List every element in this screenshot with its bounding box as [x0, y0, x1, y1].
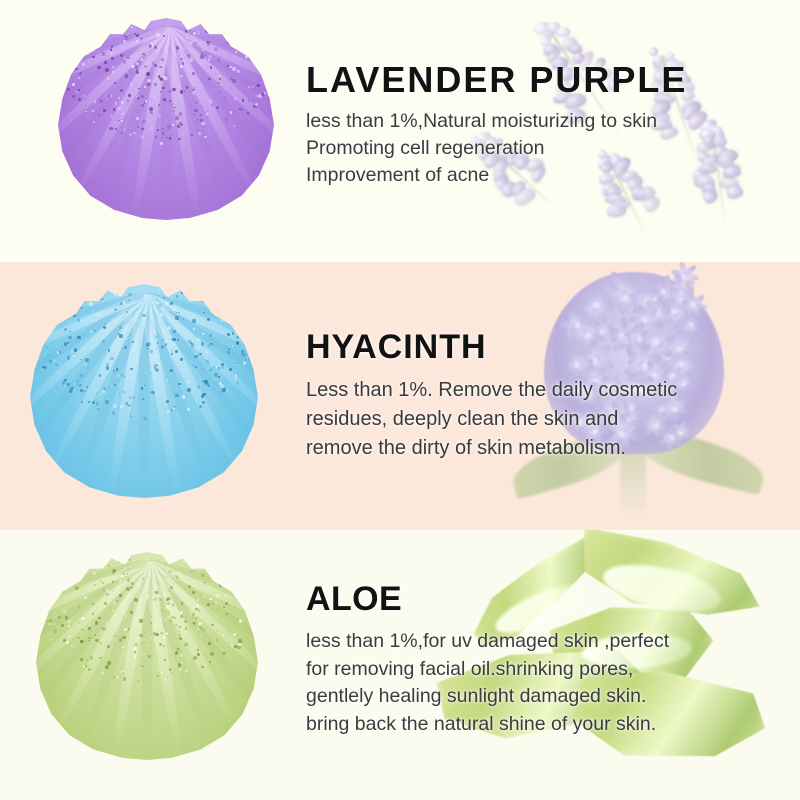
shell-pore	[216, 557, 217, 558]
shell-pore	[49, 619, 52, 622]
shell-pore	[230, 111, 233, 114]
shell-pore	[249, 329, 251, 331]
shell-pore	[121, 101, 124, 104]
shell-pore	[193, 32, 196, 35]
shell-pore	[234, 376, 237, 379]
shell-pore	[224, 294, 227, 297]
shell-pore	[249, 4, 251, 6]
shell-pore	[176, 51, 178, 53]
shell-pore	[201, 554, 205, 558]
shell-pore	[184, 90, 186, 92]
shell-pore	[63, 533, 67, 537]
shell-pore	[195, 102, 198, 105]
shell-pore	[224, 585, 227, 588]
shell-pore	[129, 648, 130, 649]
hyacinth-floret	[678, 287, 713, 322]
shell-pore	[48, 332, 50, 334]
hyacinth-petal	[660, 291, 670, 309]
shell-pore	[107, 661, 110, 664]
hyacinth-floret-core	[611, 283, 627, 299]
lavender-floret	[605, 193, 627, 204]
shell-pore	[119, 334, 122, 337]
shell-pore	[99, 657, 101, 659]
shell-pore	[101, 298, 104, 301]
shell-pore	[137, 637, 139, 639]
shell-pore	[109, 5, 112, 8]
shell-pore	[67, 356, 70, 359]
shell-pore	[71, 645, 73, 647]
shell-pore	[75, 68, 78, 71]
shell-pore	[255, 18, 256, 19]
shell-pore	[207, 111, 209, 113]
shell-pore	[266, 17, 267, 18]
shell-pore	[180, 572, 181, 573]
shell-pore	[89, 565, 93, 569]
lavender-floret	[554, 26, 570, 37]
shell-pore	[203, 566, 205, 568]
shell-pore	[244, 51, 247, 54]
shell-pore	[110, 357, 113, 360]
shell-pore	[42, 262, 45, 263]
shell-pore	[157, 669, 159, 671]
shell-pore	[56, 287, 60, 291]
shell-pore	[157, 129, 159, 131]
shell-pore	[216, 532, 218, 534]
shell-pore	[193, 87, 195, 89]
shell-pore	[96, 46, 98, 48]
shell-pore	[112, 66, 114, 68]
hyacinth-petal	[670, 298, 679, 314]
shell-pore	[172, 308, 175, 311]
shell-pore	[136, 34, 139, 37]
shell-pore	[260, 47, 261, 48]
shell-pore	[202, 393, 205, 396]
shell-pore	[69, 270, 72, 273]
shell-pore	[232, 79, 236, 83]
shell-pore	[175, 394, 178, 397]
shell-pore	[167, 677, 169, 679]
shell-pore	[260, 80, 261, 81]
shell-pore	[72, 83, 75, 86]
shell-pore	[180, 654, 183, 657]
shell-pore	[105, 13, 107, 15]
shell-pore	[94, 584, 96, 586]
shell-pore	[94, 31, 95, 32]
shell-pore	[139, 605, 140, 606]
shell-pore	[254, 6, 257, 9]
shell-pore	[98, 114, 100, 116]
shell-pore	[131, 26, 133, 28]
shell-pore	[67, 342, 69, 344]
shell-pore	[83, 390, 86, 393]
hyacinth-petal	[662, 299, 682, 309]
shell-pore	[64, 379, 67, 382]
shell-pore	[208, 78, 211, 81]
shell-pore	[110, 52, 113, 55]
shell-pore	[114, 557, 117, 560]
shell-pore	[197, 338, 200, 341]
shell-pore	[209, 334, 212, 337]
hyacinth-floret	[658, 296, 693, 331]
shell-pore	[202, 647, 204, 649]
shell-pore	[105, 32, 107, 34]
shell-pore	[191, 134, 193, 136]
shell-pore	[84, 52, 86, 54]
shell-pore	[102, 52, 106, 56]
shell-pore	[211, 624, 214, 627]
shell-pore	[201, 342, 205, 346]
shell-pore	[124, 376, 126, 378]
shell-pore	[210, 652, 214, 656]
shell-pore	[90, 278, 91, 279]
hyacinth-petal	[661, 311, 677, 326]
shell-pore	[209, 598, 211, 600]
shell-pore	[142, 666, 143, 667]
shell-pore	[242, 27, 243, 28]
shell-pore	[201, 280, 203, 282]
shell-pore	[195, 613, 198, 616]
shell-pore	[67, 298, 70, 301]
shell-pore	[128, 293, 131, 296]
shell-pore	[158, 104, 160, 106]
shell-pore	[172, 124, 174, 126]
shell-pore	[261, 82, 262, 83]
hyacinth-petal	[602, 288, 622, 308]
shell-pore	[232, 332, 235, 335]
shell-pore	[187, 408, 190, 411]
shell-pore	[214, 6, 217, 9]
shell-pore	[226, 390, 228, 392]
shell-pore	[235, 274, 238, 277]
shell-pore	[118, 561, 120, 563]
hyacinth-petal	[682, 275, 691, 290]
shell-pore	[236, 280, 238, 282]
shell-pore	[220, 384, 224, 388]
shell-pore	[180, 65, 183, 68]
shell-pore	[58, 616, 61, 619]
shell-pore	[155, 586, 157, 588]
shell-pore	[119, 579, 122, 582]
shell-pore	[46, 574, 48, 576]
shell-pore	[94, 35, 95, 36]
shell-pore	[109, 127, 113, 131]
shell-pore	[49, 360, 52, 363]
shell-pore	[108, 565, 110, 567]
shell-pore	[204, 561, 207, 564]
shell-pore	[203, 300, 205, 302]
shell-pore	[222, 377, 224, 379]
shell-pore	[210, 573, 213, 576]
shell-pore	[231, 531, 234, 534]
shell-pore	[126, 71, 128, 73]
shell-pore	[200, 55, 204, 59]
shell-pore	[160, 313, 163, 316]
shell-pore	[138, 28, 139, 29]
shell-pore	[248, 352, 250, 354]
shell-pore	[92, 603, 94, 605]
panel-body-line-1: less than 1%,Natural moisturizing to ski…	[306, 108, 776, 135]
shell-pore	[98, 617, 100, 619]
shell-pore	[221, 331, 222, 332]
shell-pore	[89, 623, 91, 625]
shell-pore	[233, 559, 236, 562]
shell-pore	[77, 319, 80, 322]
shell-pore	[111, 45, 114, 48]
hyacinth-floret-core	[690, 300, 700, 310]
shell-pore	[241, 12, 242, 13]
shell-pore	[68, 336, 71, 339]
shell-pore	[224, 310, 225, 311]
shell-pore	[237, 47, 240, 50]
shell-pore	[227, 42, 229, 44]
shell-pore	[202, 628, 205, 631]
shell-pore	[167, 586, 169, 588]
shell-pore	[78, 98, 81, 101]
shell-pore	[117, 676, 120, 679]
panel-hyacinth: HYACINTH Less than 1%. Remove the daily …	[0, 262, 800, 530]
shell-pore	[243, 361, 246, 364]
shell-pore	[250, 341, 252, 343]
shell-pore	[239, 619, 242, 622]
shell-pore	[55, 546, 58, 549]
shell-pore	[212, 370, 213, 371]
shell-pore	[122, 572, 125, 575]
shell-pore	[210, 84, 211, 85]
shell-pore	[83, 95, 85, 97]
shell-pore	[124, 628, 127, 631]
shell-pore	[100, 98, 102, 100]
shell-pore	[140, 37, 143, 40]
shell-pore	[166, 137, 168, 139]
shell-pore	[195, 353, 197, 355]
shell-pore	[47, 347, 49, 349]
shell-pore	[197, 31, 200, 34]
shell-pore	[218, 376, 220, 378]
shell-pore	[166, 400, 168, 402]
shell-pore	[171, 353, 173, 355]
shell-pore	[111, 385, 112, 386]
hyacinth-petal	[681, 300, 701, 310]
shell-pore	[55, 363, 59, 367]
shell-pore	[242, 99, 245, 102]
shell-pore	[44, 610, 45, 611]
shell-pore	[265, 43, 266, 44]
shell-pore	[75, 551, 77, 553]
shell-pore	[53, 542, 56, 545]
lavender-floret	[542, 42, 559, 57]
hyacinth-petal	[593, 288, 606, 308]
shell-pore	[110, 396, 111, 397]
shell-pore	[103, 326, 106, 329]
shell-pore	[167, 616, 170, 619]
shell-pore	[63, 639, 65, 641]
shell-pore	[222, 302, 225, 305]
shell-pore	[94, 27, 96, 29]
shell-pore	[134, 643, 138, 647]
shell-pore	[113, 370, 115, 372]
shell-pore	[82, 51, 85, 54]
shell-pore	[80, 359, 82, 361]
shell-pore	[134, 602, 135, 603]
shell-pore	[206, 351, 208, 353]
shell-pore	[236, 322, 240, 326]
shell-pore	[153, 330, 157, 334]
shell-pore	[110, 95, 111, 96]
shell-pore	[81, 319, 84, 322]
shell-pore	[132, 595, 133, 596]
shell-pore	[170, 586, 173, 589]
hyacinth-floret-core	[660, 311, 668, 319]
shell-pore	[51, 573, 53, 575]
shell-pore	[161, 609, 164, 612]
shell-pore	[147, 348, 149, 350]
shell-pore	[165, 302, 168, 305]
shell-pore	[180, 358, 183, 361]
shell-pore	[122, 672, 124, 674]
shell-pore	[77, 41, 79, 43]
shell-pore	[150, 637, 151, 638]
shell-pore	[213, 365, 216, 368]
shell-pore	[219, 295, 223, 299]
shell-pore	[144, 86, 147, 89]
panel-body-line-4: bring back the natural shine of your ski…	[306, 711, 776, 739]
shell-pore	[72, 95, 75, 98]
hyacinth-petal	[678, 262, 687, 276]
shell-pore	[88, 539, 91, 542]
shell-pore	[248, 358, 251, 361]
shell-pore	[213, 378, 214, 379]
shell-pore	[206, 113, 208, 115]
shell-pore	[89, 302, 93, 306]
shell-pore	[126, 587, 130, 591]
shell-pore	[97, 552, 100, 555]
shell-pore	[69, 370, 70, 371]
shell-pore	[209, 661, 211, 663]
shell-pore	[130, 368, 133, 371]
shell-pore	[78, 77, 80, 79]
shell-pore	[264, 92, 266, 94]
shell-pore	[160, 91, 162, 93]
shell-pore	[248, 543, 251, 546]
shell-pore	[118, 97, 120, 99]
shell-pore	[95, 285, 98, 288]
hyacinth-floret	[655, 278, 708, 331]
shell-pore	[122, 614, 123, 615]
shell-body	[58, 18, 274, 220]
shell-pore	[164, 291, 165, 292]
shell-pore	[124, 559, 127, 562]
shell-pore	[194, 548, 197, 551]
shell-pore	[200, 635, 202, 637]
shell-pore	[90, 31, 92, 33]
hyacinth-petal	[682, 298, 696, 307]
shell-pore	[153, 598, 156, 601]
shell-pore	[227, 351, 230, 354]
shell-pore	[119, 594, 122, 597]
shell-pore	[79, 72, 82, 75]
shell-pore	[77, 380, 79, 382]
shell-pore	[124, 12, 126, 14]
hyacinth-floret	[668, 262, 702, 292]
shell-pore	[95, 621, 99, 625]
shell-pore	[84, 45, 86, 47]
shell-holder-blue	[0, 262, 280, 530]
shell-pore	[198, 619, 199, 620]
shell-pore	[77, 336, 81, 340]
shell-pore	[224, 595, 226, 597]
panel-aloe: ALOE less than 1%,for uv damaged skin ,p…	[0, 530, 800, 800]
hyacinth-petal	[692, 304, 701, 318]
shell-pore	[176, 295, 179, 298]
shell-pore	[225, 286, 226, 287]
hyacinth-petal	[652, 298, 664, 314]
shell-pore	[37, 283, 40, 286]
shell-pore	[75, 586, 78, 589]
shell-pore	[100, 580, 101, 581]
shell-pore	[180, 58, 182, 60]
shell-pore	[140, 665, 142, 667]
shell-pore	[180, 75, 183, 78]
shell-pore	[197, 119, 198, 120]
shell-pore	[95, 272, 98, 275]
hyacinth-petal	[629, 292, 646, 304]
shell-pore	[114, 82, 116, 84]
shell-pore	[243, 27, 244, 28]
shell-pore	[78, 266, 80, 268]
shell-pore	[68, 574, 69, 575]
shell-pore	[150, 350, 152, 352]
shell-pore	[191, 360, 192, 361]
shell-pore	[101, 290, 102, 291]
shell-pore	[233, 633, 236, 636]
shell-pore	[174, 617, 176, 619]
shell-pore	[199, 562, 202, 565]
shell-pore	[125, 17, 128, 20]
shell-pore	[114, 635, 116, 637]
shell-pore	[145, 100, 148, 103]
panel-body-line-3: remove the dirty of skin metabolism.	[306, 434, 776, 463]
shell-pore	[217, 317, 219, 319]
shell-pore	[122, 636, 126, 640]
shell-pore	[97, 313, 101, 317]
shell-pore	[245, 38, 246, 39]
shell-pore	[245, 55, 248, 58]
shell-pore	[92, 613, 94, 615]
shell-pore	[89, 33, 92, 36]
shell-pore	[135, 563, 136, 564]
shell-pore	[229, 368, 233, 372]
shell-pore	[49, 292, 51, 294]
shell-pore	[130, 586, 133, 589]
shell-pore	[225, 117, 228, 120]
shell-pore	[206, 41, 208, 43]
shell-pore	[159, 643, 162, 646]
shell-pore	[155, 633, 158, 636]
shell-pore	[154, 46, 157, 49]
hyacinth-petal	[674, 310, 691, 322]
shell-pore	[222, 382, 224, 384]
shell-pore	[202, 333, 204, 335]
shell-pore	[157, 342, 158, 343]
shell-pore	[112, 23, 114, 25]
shell-pore	[78, 47, 81, 50]
shell-pore	[43, 366, 47, 370]
shell-pore	[158, 595, 160, 597]
shell-pore	[167, 410, 170, 413]
shell-pore	[221, 307, 222, 308]
shell-pore	[77, 637, 79, 639]
shell-pore	[77, 50, 79, 52]
